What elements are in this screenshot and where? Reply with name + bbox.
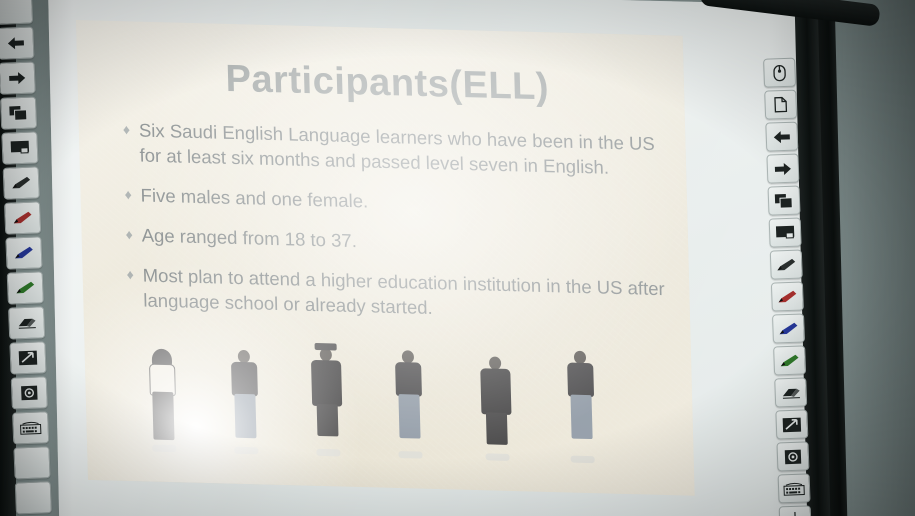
female-figure-icon (145, 351, 182, 448)
windows-icon (8, 105, 29, 122)
keyboard-icon (19, 420, 42, 435)
forward-button[interactable] (766, 154, 799, 184)
mouse-button[interactable] (763, 58, 796, 88)
page-button[interactable] (764, 90, 797, 120)
mouse-icon (772, 63, 787, 81)
camera-button[interactable] (11, 376, 48, 409)
arrow-left-icon (6, 36, 27, 51)
bullet-text: Five males and one female. (140, 183, 368, 214)
pen-icon (777, 320, 800, 337)
male-dark-figure-icon (477, 356, 516, 457)
list-item: ♦ Age ranged from 18 to 37. (125, 222, 671, 261)
list-item: ♦ Five males and one female. (124, 182, 670, 221)
pointer-button[interactable] (775, 409, 808, 439)
bullet-marker-icon: ♦ (124, 182, 141, 207)
slide-title: Participants(ELL) (225, 58, 550, 109)
keyboard-icon (783, 481, 805, 496)
windows-icon (774, 192, 795, 209)
pen-icon (11, 210, 34, 227)
arrow-right-icon (773, 161, 793, 176)
back-button[interactable] (0, 26, 34, 59)
blank-button[interactable] (0, 0, 33, 25)
screen-button[interactable] (769, 218, 802, 248)
projected-slide: Participants(ELL) ♦ Six Saudi English La… (76, 20, 695, 496)
male-figure-icon (563, 350, 600, 459)
bullet-text: Most plan to attend a higher education i… (142, 262, 673, 326)
pen-red[interactable] (4, 201, 41, 234)
bullet-text: Age ranged from 18 to 37. (141, 223, 357, 254)
camera-icon (784, 448, 803, 465)
whiteboard-photo: Participants(ELL) ♦ Six Saudi English La… (0, 0, 915, 516)
eraser-icon (15, 316, 38, 331)
windows-button[interactable] (0, 96, 37, 129)
pen-black[interactable] (770, 249, 803, 279)
participant-figures (126, 317, 670, 461)
pen-icon (775, 256, 798, 273)
windows-button[interactable] (768, 186, 801, 216)
pen-blue[interactable] (5, 236, 42, 269)
blank-button-2[interactable] (13, 446, 50, 479)
pen-icon (776, 288, 799, 305)
crosshair-icon (786, 511, 805, 516)
pen-icon (13, 245, 36, 262)
male-figure-icon (227, 350, 264, 451)
eraser-button[interactable] (8, 306, 45, 339)
calibrate-button[interactable] (779, 505, 812, 516)
eraser-button[interactable] (774, 377, 807, 407)
keyboard-button[interactable] (778, 473, 811, 503)
pen-icon (778, 352, 801, 369)
bullet-text: Six Saudi English Language learners who … (139, 118, 670, 182)
male-hat-figure-icon (309, 348, 346, 453)
bullet-marker-icon: ♦ (126, 262, 143, 312)
arrow-left-icon (772, 129, 792, 144)
screen-icon (775, 224, 796, 241)
back-button[interactable] (765, 122, 798, 152)
pen-blue[interactable] (772, 313, 805, 343)
pointer-icon (18, 350, 39, 367)
forward-button[interactable] (0, 61, 36, 94)
pen-black[interactable] (3, 166, 40, 199)
slide-bullet-list: ♦ Six Saudi English Language learners wh… (123, 117, 674, 341)
blank-button-3[interactable] (15, 481, 52, 514)
screen-button[interactable] (1, 131, 38, 164)
eraser-icon (780, 385, 802, 400)
bullet-marker-icon: ♦ (123, 117, 140, 167)
page-icon (773, 96, 788, 113)
camera-button[interactable] (776, 441, 809, 471)
screen-icon (10, 140, 31, 157)
keyboard-button[interactable] (12, 411, 49, 444)
camera-icon (20, 385, 39, 402)
pen-red[interactable] (771, 281, 804, 311)
male-figure-icon (391, 350, 428, 455)
pen-green[interactable] (7, 271, 44, 304)
pointer-button[interactable] (9, 341, 46, 374)
bullet-marker-icon: ♦ (125, 222, 142, 247)
pen-icon (14, 280, 37, 297)
pen-icon (10, 175, 33, 192)
pointer-icon (782, 416, 803, 433)
pen-green[interactable] (773, 345, 806, 375)
list-item: ♦ Six Saudi English Language learners wh… (123, 117, 670, 181)
list-item: ♦ Most plan to attend a higher education… (126, 262, 673, 326)
arrow-right-icon (7, 71, 28, 86)
